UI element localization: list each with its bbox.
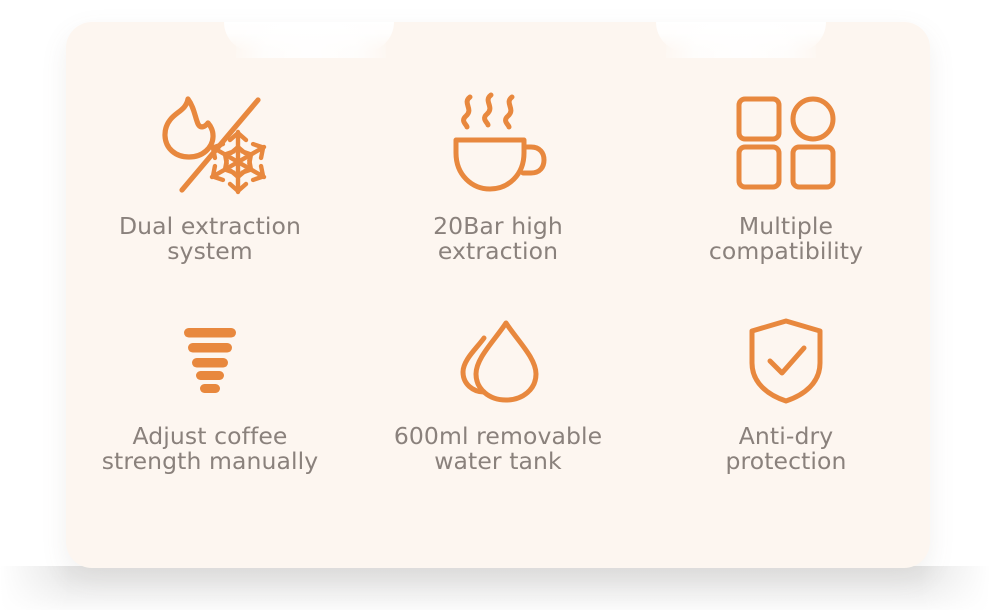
strength-bars-icon	[182, 308, 238, 414]
card-top-notch-right-edge	[656, 22, 826, 52]
feature-card: Dual extraction system	[66, 22, 930, 568]
feature-item-20bar-high-extraction: 20Bar high extraction	[354, 80, 642, 300]
feature-item-water-tank: 600ml removable water tank	[354, 308, 642, 528]
flame-snowflake-icon	[142, 80, 278, 206]
coffee-cup-steam-icon	[443, 80, 553, 206]
card-top-notch-right	[666, 22, 816, 58]
feature-label: Anti-dry protection	[725, 424, 846, 475]
feature-item-multiple-compatibility: Multiple compatibility	[642, 80, 930, 300]
card-top-notch-left-edge	[224, 22, 394, 52]
feature-label: 20Bar high extraction	[433, 214, 563, 265]
feature-item-adjust-strength: Adjust coffee strength manually	[66, 308, 354, 528]
feature-grid: Dual extraction system	[66, 80, 930, 528]
page-root: Dual extraction system	[0, 0, 990, 610]
feature-item-anti-dry-protection: Anti-dry protection	[642, 308, 930, 528]
card-top-notch-left	[236, 22, 386, 58]
multi-shapes-icon	[735, 80, 837, 206]
feature-label: 600ml removable water tank	[394, 424, 602, 475]
feature-label: Multiple compatibility	[709, 214, 863, 265]
feature-label: Adjust coffee strength manually	[102, 424, 319, 475]
water-droplets-icon	[449, 308, 547, 414]
feature-label: Dual extraction system	[119, 214, 301, 265]
shield-check-icon	[744, 308, 828, 414]
feature-item-dual-extraction: Dual extraction system	[66, 80, 354, 300]
page-bottom-band	[0, 566, 990, 610]
